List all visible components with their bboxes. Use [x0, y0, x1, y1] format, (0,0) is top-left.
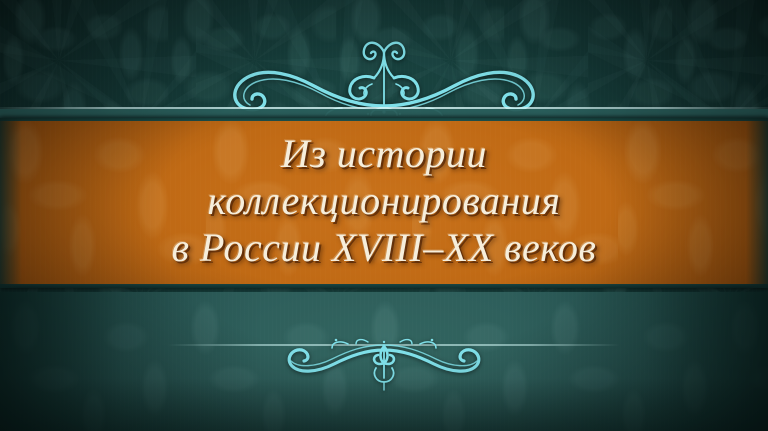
title-line-2: коллекционирования [208, 177, 561, 224]
banner-edge-top [0, 118, 768, 121]
title-slide: Из истории коллекционирования в России X… [0, 0, 768, 431]
panel-texture-layer [0, 292, 768, 431]
title-line-3: в России XVIII–XX веков [172, 224, 597, 271]
slide-title: Из истории коллекционирования в России X… [0, 130, 768, 278]
banner-edge-bottom [0, 284, 768, 288]
divider-rule-bottom [168, 344, 620, 346]
lower-panel [0, 292, 768, 431]
title-line-1: Из истории [281, 130, 487, 177]
